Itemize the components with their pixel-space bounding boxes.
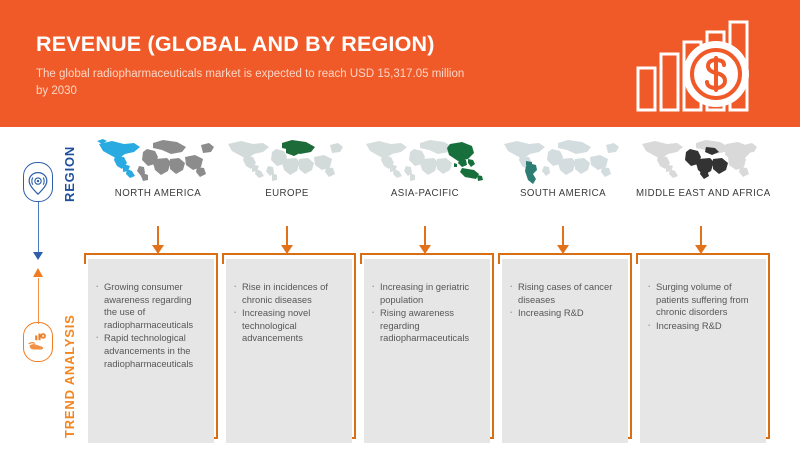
rail-label-region: REGION: [62, 146, 77, 202]
card-body: Increasing in geriatric population Risin…: [364, 259, 490, 443]
trend-connector-arrow-up: [33, 268, 43, 277]
card-body: Rise in incidences of chronic diseases I…: [226, 259, 352, 443]
region-label: ASIA-PACIFIC: [360, 188, 490, 199]
region-connector-line: [38, 202, 40, 254]
rail-label-trend-analysis: TREND ANALYSIS: [62, 314, 77, 438]
page-title: REVENUE (GLOBAL AND BY REGION): [36, 32, 435, 57]
world-map-south-america: [498, 137, 628, 185]
region-column-middle-east-and-africa: MIDDLE EAST AND AFRICA: [636, 137, 766, 199]
region-column-south-america: SOUTH AMERICA: [498, 137, 628, 199]
region-column-europe: EUROPE: [222, 137, 352, 199]
world-map-europe: [222, 137, 352, 185]
world-map-asia-pacific: [360, 137, 490, 185]
card-body: Growing consumer awareness regarding the…: [88, 259, 214, 443]
region-label: EUROPE: [222, 188, 352, 199]
list-item: Increasing R&D: [518, 307, 621, 320]
hand-growth-icon: [23, 322, 53, 362]
list-item: Rising cases of cancer diseases: [518, 281, 621, 306]
header-banner: REVENUE (GLOBAL AND BY REGION) The globa…: [0, 0, 800, 127]
list-item: Rapid technological advancements in the …: [104, 332, 207, 370]
trend-card-middle-east-and-africa: Surging volume of patients suffering fro…: [636, 253, 774, 445]
trend-card-north-america: Growing consumer awareness regarding the…: [84, 253, 222, 445]
trend-card-south-america: Rising cases of cancer diseases Increasi…: [498, 253, 636, 445]
list-item: Increasing novel technological advanceme…: [242, 307, 345, 345]
region-column-north-america: NORTH AMERICA: [93, 137, 223, 199]
card-body: Surging volume of patients suffering fro…: [640, 259, 766, 443]
trend-connector-line: [38, 278, 40, 324]
list-item: Rise in incidences of chronic diseases: [242, 281, 345, 306]
list-item: Rising awareness regarding radiopharmace…: [380, 307, 483, 345]
infographic-page: REVENUE (GLOBAL AND BY REGION) The globa…: [0, 0, 800, 450]
region-label: MIDDLE EAST AND AFRICA: [636, 188, 766, 199]
region-column-asia-pacific: ASIA-PACIFIC: [360, 137, 490, 199]
card-body: Rising cases of cancer diseases Increasi…: [502, 259, 628, 443]
list-item: Increasing in geriatric population: [380, 281, 483, 306]
region-label: NORTH AMERICA: [93, 188, 223, 199]
list-item: Surging volume of patients suffering fro…: [656, 281, 759, 319]
world-map-middle-east-africa: [636, 137, 766, 185]
list-item: Growing consumer awareness regarding the…: [104, 281, 207, 331]
trend-card-asia-pacific: Increasing in geriatric population Risin…: [360, 253, 498, 445]
world-map-north-america: [93, 137, 223, 185]
bar-chart-dollar-icon: [630, 18, 780, 113]
list-item: Increasing R&D: [656, 320, 759, 333]
trend-card-europe: Rise in incidences of chronic diseases I…: [222, 253, 360, 445]
location-pin-icon: [23, 162, 53, 202]
region-label: SOUTH AMERICA: [498, 188, 628, 199]
page-subtitle: The global radiopharmaceuticals market i…: [36, 66, 466, 100]
region-connector-arrow-down: [33, 252, 43, 260]
